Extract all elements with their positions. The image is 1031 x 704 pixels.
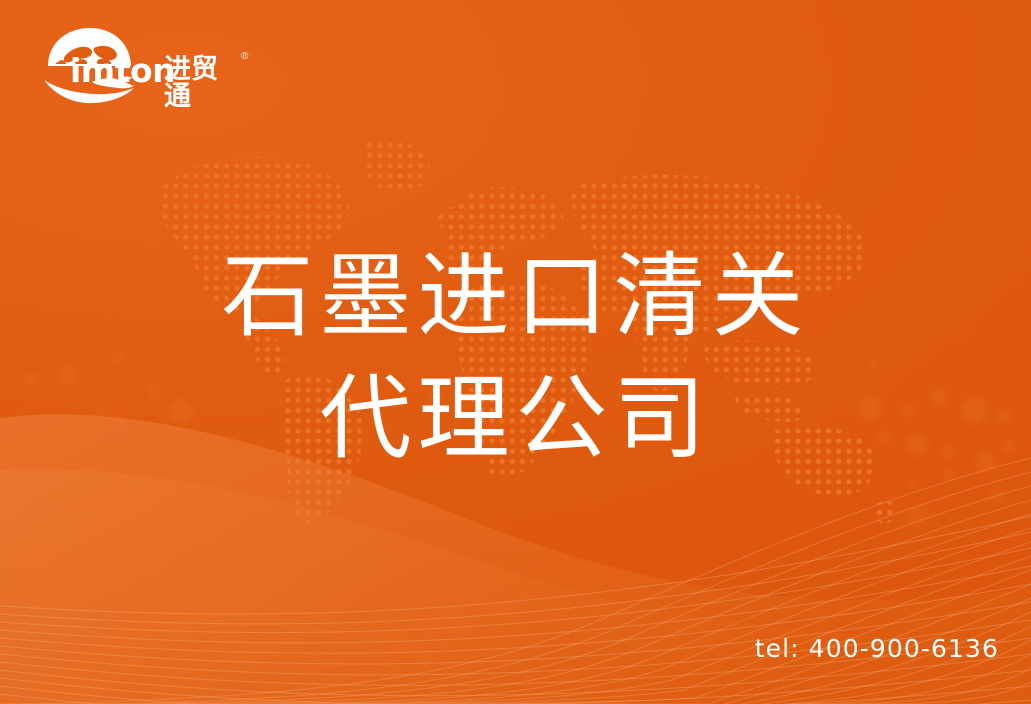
bokeh-circle [990,488,1006,504]
logo-chinese-name: 进贸通 [164,56,224,110]
logo-wordmark: imton [70,54,175,87]
page-title-line-1: 石墨进口清关 [0,236,1031,358]
imton-logo[interactable]: imton 进贸通 ® [34,26,224,104]
bokeh-circle [906,506,928,528]
page-title-line-2: 代理公司 [0,358,1031,480]
contact-phone: tel: 400-900-6136 [755,634,999,663]
page-title: 石墨进口清关 代理公司 [0,236,1031,481]
poster-canvas: imton 进贸通 ® 石墨进口清关 代理公司 tel: 400-900-613… [0,0,1031,704]
logo-trademark-symbol: ® [241,52,248,62]
